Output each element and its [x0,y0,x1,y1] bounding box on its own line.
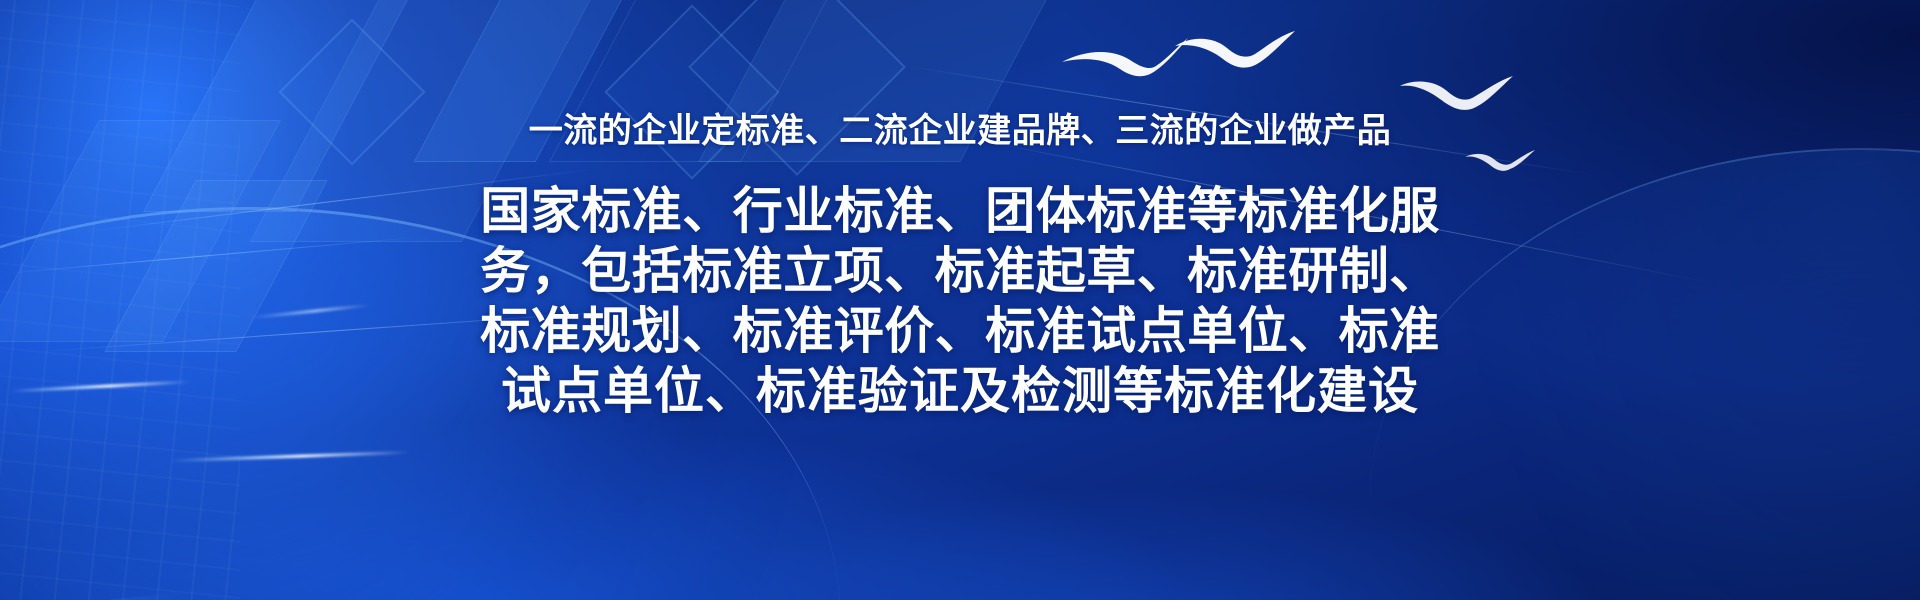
banner-body-line-4: 试点单位、标准验证及检测等标准化建设 [445,361,1475,421]
promo-banner: 一流的企业定标准、二流企业建品牌、三流的企业做产品 国家标准、行业标准、团体标准… [0,0,1920,600]
banner-body-line-1: 国家标准、行业标准、团体标准等标准化服 [445,181,1475,241]
banner-body-line-2: 务，包括标准立项、标准起草、标准研制、 [445,241,1475,301]
banner-body-text: 国家标准、行业标准、团体标准等标准化服 务，包括标准立项、标准起草、标准研制、 … [445,181,1475,421]
banner-content: 一流的企业定标准、二流企业建品牌、三流的企业做产品 国家标准、行业标准、团体标准… [0,0,1920,600]
banner-tagline: 一流的企业定标准、二流企业建品牌、三流的企业做产品 [529,112,1392,151]
banner-body-line-3: 标准规划、标准评价、标准试点单位、标准 [445,301,1475,361]
